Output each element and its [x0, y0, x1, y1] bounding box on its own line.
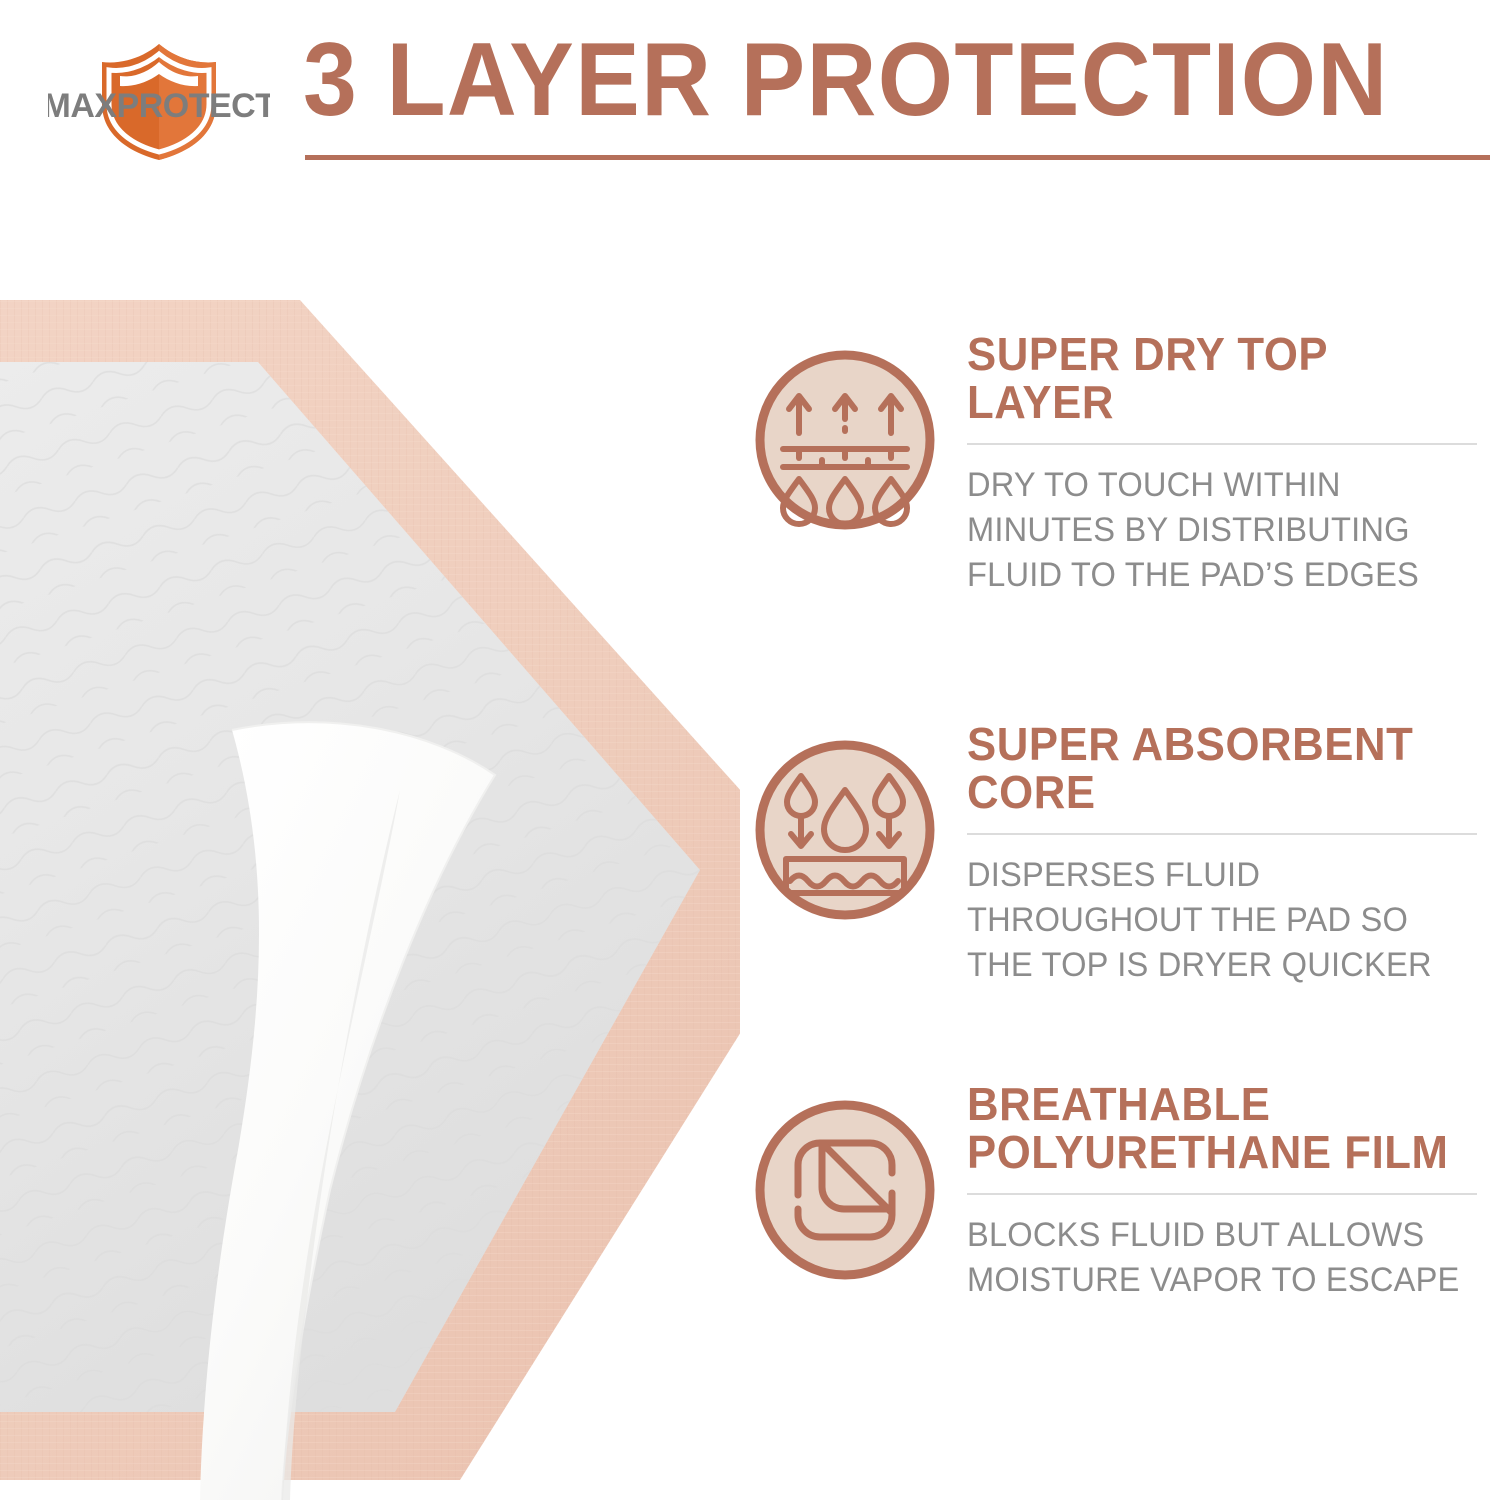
- feature-divider: [967, 833, 1477, 835]
- peeling-film-sheet-icon: [750, 1095, 940, 1285]
- arrows-up-over-droplets-icon: [750, 345, 940, 535]
- feature-text-block: BREATHABLE POLYURETHANE FILM BLOCKS FLUI…: [967, 1080, 1500, 1303]
- feature-body: BLOCKS FLUID BUT ALLOWS MOISTURE VAPOR T…: [967, 1213, 1479, 1303]
- feature-divider: [967, 443, 1477, 445]
- feature-body: DRY TO TOUCH WITHIN MINUTES BY DISTRIBUT…: [967, 463, 1479, 598]
- underpad-corner-photo: [0, 270, 740, 1500]
- feature-text-block: SUPER DRY TOP LAYER DRY TO TOUCH WITHIN …: [967, 330, 1500, 598]
- feature-text-block: SUPER ABSORBENT CORE DISPERSES FLUID THR…: [967, 720, 1500, 988]
- title-divider: [305, 155, 1490, 160]
- droplets-into-core-icon: [750, 735, 940, 925]
- feature-divider: [967, 1193, 1477, 1195]
- infographic-page: MAXPROTECT 3 LAYER PROTECTION: [0, 0, 1500, 1500]
- feature-heading: BREATHABLE POLYURETHANE FILM: [967, 1080, 1473, 1176]
- header: MAXPROTECT 3 LAYER PROTECTION: [0, 0, 1500, 190]
- brand-wordmark: MAXPROTECT: [48, 87, 270, 125]
- feature-heading: SUPER ABSORBENT CORE: [967, 720, 1473, 816]
- feature-list: SUPER DRY TOP LAYER DRY TO TOUCH WITHIN …: [745, 330, 1500, 1450]
- feature-body: DISPERSES FLUID THROUGHOUT THE PAD SO TH…: [967, 853, 1479, 988]
- feature-heading: SUPER DRY TOP LAYER: [967, 330, 1473, 426]
- brand-logo: MAXPROTECT: [48, 38, 270, 163]
- page-title: 3 LAYER PROTECTION: [303, 28, 1389, 132]
